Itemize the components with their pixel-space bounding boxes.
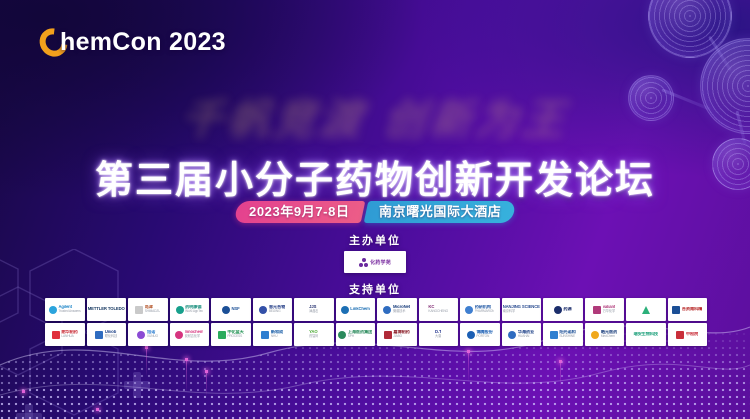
sponsor-logo-name: 阳光诺和SUNSHINE: [559, 330, 575, 339]
spark-stem-decor: [468, 352, 469, 382]
spark-decor: [205, 370, 208, 373]
sponsor-logo[interactable]: D.T大唐: [419, 323, 459, 346]
sponsor-logo-mark-icon: [338, 331, 346, 339]
tagline-text: 千帆竞渡 创新为王: [178, 84, 572, 145]
sponsor-logo-name: 上海医药集团SPH: [348, 330, 373, 339]
sponsor-logo-mark-icon: [467, 331, 475, 339]
sponsor-logo-mark-icon: [176, 306, 184, 314]
sponsor-logo-subtitle: PROCESS: [227, 335, 243, 339]
sponsor-logo-subtitle: PORTON: [476, 335, 492, 339]
sponsor-logo-mark-icon: [383, 306, 391, 314]
sponsor-logo-subtitle: KANGCHENG: [428, 310, 448, 314]
event-meta-badges: 2023年9月7-8日 南京曙光国际大酒店: [0, 201, 750, 223]
sponsor-logo-subtitle: LANHUA: [61, 335, 77, 339]
sponsor-logo[interactable]: 皓元医药MedChem: [585, 323, 625, 346]
sponsor-logo-mark-icon: [642, 306, 650, 314]
spark-decor: [467, 350, 470, 353]
sponsor-logo-name: 中检院: [686, 332, 698, 337]
sponsor-logo-name: NANJING SCIENCE南京科学: [503, 305, 540, 314]
sponsor-logo-subtitle: MedChem: [601, 335, 617, 339]
sponsor-logo-mark-icon: [95, 331, 103, 339]
sponsor-logo-mark-icon: [49, 306, 57, 314]
sponsor-logo[interactable]: 药研机构PHARMARON: [460, 298, 500, 321]
sponsor-row: 朗华制药LANHUAUniob联化科技旭诺XUNUOInnochem安耐吉化学中…: [45, 323, 707, 346]
sponsor-logo-name: 药研机构PHARMARON: [475, 305, 495, 314]
sponsor-logo[interactable]: 合资南科精: [668, 298, 708, 321]
sponsor-logo-name: JJS津晶石: [309, 305, 318, 314]
sponsor-logo-mark-icon: [137, 331, 145, 339]
venue-badge-label: 南京曙光国际大酒店: [379, 201, 501, 223]
spark-stem-decor: [186, 360, 187, 392]
sponsor-logo-subtitle: SPH: [348, 335, 373, 339]
sponsor-logo[interactable]: 瑞安生物科技: [626, 323, 666, 346]
sponsor-logo-name: Innochem安耐吉化学: [185, 330, 204, 339]
sponsor-logo-mark-icon: [52, 331, 60, 339]
sponsor-logo[interactable]: YAO药智网: [294, 323, 334, 346]
sponsor-logo-name: valiant万华化学: [603, 305, 616, 314]
sponsor-logo-mark-icon: [222, 306, 230, 314]
sponsor-logo[interactable]: 博腾股份PORTON: [460, 323, 500, 346]
sponsor-logo-subtitle: SUNSHINE: [559, 335, 575, 339]
sponsor-logo-mark-icon: [593, 306, 601, 314]
sponsor-logo-name: 药明康德WuXi AppTec: [185, 305, 203, 314]
sponsor-logo[interactable]: Uniob联化科技: [87, 323, 127, 346]
sponsor-logo-name: NSF: [231, 307, 239, 312]
sponsor-logo-mark-icon: [259, 306, 267, 314]
brand-text: hemCon 2023: [60, 28, 226, 57]
sponsor-logo-subtitle: WuXi AppTec: [185, 310, 203, 314]
sponsor-logo[interactable]: MicroNet微谱技术: [377, 298, 417, 321]
sponsor-logo-name: 合资南科精: [682, 307, 702, 312]
sponsor-logo-subtitle: 大唐: [435, 335, 441, 339]
sponsor-logo[interactable]: 药源: [543, 298, 583, 321]
conference-poster: hemCon 2023 千帆竞渡 创新为王 第三届小分子药物创新开发论坛 202…: [0, 0, 750, 419]
sponsor-logo-name: AgilentTrusted Answers: [58, 305, 80, 314]
tagline: 千帆竞渡 创新为王: [0, 84, 750, 145]
sponsor-logo-name: 瑞安生物科技: [633, 332, 658, 337]
sponsor-logo-mark-icon: [508, 331, 516, 339]
sponsor-logo[interactable]: [626, 298, 666, 321]
sponsor-logo-name: 新和成NHU: [271, 330, 283, 339]
sponsor-logo-mark-icon: [261, 331, 269, 339]
sponsor-logo[interactable]: JJS津晶石: [294, 298, 334, 321]
spark-decor: [185, 358, 188, 361]
sponsor-logo-name: 皓元医药MedChem: [601, 330, 617, 339]
sponsor-logo[interactable]: valiant万华化学: [585, 298, 625, 321]
spark-stem-decor: [146, 348, 147, 376]
venue-badge: 南京曙光国际大酒店: [364, 201, 517, 223]
sponsor-row: AgilentTrusted AnswersMETTLER TOLEDO岛津SH…: [45, 298, 707, 321]
sponsor-logo-name: YAO药智网: [309, 330, 318, 339]
sponsor-logo-subtitle: Trusted Answers: [58, 310, 80, 314]
sponsor-logo-mark-icon: [591, 331, 599, 339]
sponsor-logo[interactable]: 上海医药集团SPH: [336, 323, 376, 346]
sponsor-logo[interactable]: LinkChem: [336, 298, 376, 321]
sponsor-logo-name: 中化蓝天PROCESS: [227, 330, 243, 339]
sponsor-logo-subtitle: XUNUO: [147, 335, 158, 339]
spark-decor: [22, 390, 25, 393]
sponsor-logo[interactable]: AgilentTrusted Answers: [45, 298, 85, 321]
spark-decor: [559, 360, 562, 363]
sponsor-logo-name: 博腾股份PORTON: [476, 330, 492, 339]
sponsor-logo-mark-icon: [218, 331, 226, 339]
sponsor-logo[interactable]: Innochem安耐吉化学: [170, 323, 210, 346]
sponsor-logo-mark-icon: [384, 331, 392, 339]
sponsor-logo-mark-icon: [135, 306, 143, 314]
sponsor-logo-name: 旭诺XUNUO: [147, 330, 158, 339]
sponsor-logo-subtitle: 微谱技术: [393, 310, 410, 314]
sponsor-logo[interactable]: METTLER TOLEDO: [87, 298, 127, 321]
sponsor-logo-mark-icon: [676, 331, 684, 339]
spark-stem-decor: [206, 372, 207, 396]
sponsor-logo[interactable]: 中检院: [668, 323, 708, 346]
sponsor-logo-mark-icon: [175, 331, 183, 339]
sponsor-logo-subtitle: 南京科学: [503, 310, 540, 314]
sponsor-logo-subtitle: 药智网: [309, 335, 318, 339]
sponsor-logo-mark-icon: [550, 331, 558, 339]
sponsor-logo[interactable]: 嘉博制药JIABO: [377, 323, 417, 346]
sponsor-logo-name: LinkChem: [350, 307, 369, 312]
date-badge-label: 2023年9月7-8日: [249, 201, 350, 223]
sponsor-logo-subtitle: NHU: [271, 335, 283, 339]
sponsor-logo[interactable]: 药明康德WuXi AppTec: [170, 298, 210, 321]
sponsor-logo-name: Uniob联化科技: [105, 330, 117, 339]
sponsor-logo-mark-icon: [554, 306, 562, 314]
sponsor-logo-subtitle: 万华化学: [603, 310, 616, 314]
sponsor-logo-name: METTLER TOLEDO: [88, 307, 125, 312]
sponsor-logo[interactable]: KCKANGCHENG: [419, 298, 459, 321]
main-title-text: 第三届小分子药物创新开发论坛: [95, 158, 655, 202]
sponsor-logo-name: 朗华制药LANHUA: [61, 330, 77, 339]
sponsor-logo[interactable]: 新和成NHU: [253, 323, 293, 346]
sponsor-logo[interactable]: 岛津SHIMADZU: [128, 298, 168, 321]
sponsor-logo[interactable]: 中化蓝天PROCESS: [211, 323, 251, 346]
sponsor-logo-mark-icon: [465, 306, 473, 314]
sponsor-logo-mark-icon: [341, 306, 349, 314]
host-organization-logo: 化药学苑: [344, 251, 406, 273]
brand-logo: hemCon 2023: [40, 26, 226, 58]
host-section-label: 主办单位: [0, 232, 750, 248]
sponsor-logo-subtitle: 安耐吉化学: [185, 335, 204, 339]
sponsor-logo[interactable]: NSF: [211, 298, 251, 321]
sponsor-logo-name: KCKANGCHENG: [428, 305, 448, 314]
sponsor-logo-name: D.T大唐: [435, 330, 441, 339]
sponsor-logo[interactable]: 阳光诺和SUNSHINE: [543, 323, 583, 346]
sponsor-logo[interactable]: 华海药业HUAHAI: [502, 323, 542, 346]
sponsor-logo[interactable]: 旭诺XUNUO: [128, 323, 168, 346]
sponsor-logo-subtitle: BEIJING: [269, 310, 285, 314]
support-section-label: 支持单位: [0, 281, 750, 297]
spark-decor: [145, 346, 148, 349]
sponsor-logo-name: 华海药业HUAHAI: [518, 330, 534, 339]
sponsor-logo-subtitle: SHIMADZU: [145, 310, 161, 314]
sponsor-logo[interactable]: 恩元合物BEIJING: [253, 298, 293, 321]
sponsor-logo[interactable]: NANJING SCIENCE南京科学: [502, 298, 542, 321]
sponsor-logo-name: MicroNet微谱技术: [393, 305, 410, 314]
page-title: 第三届小分子药物创新开发论坛: [0, 149, 750, 204]
sponsor-logo-name: 药源: [563, 307, 571, 312]
sponsor-logo-grid: AgilentTrusted AnswersMETTLER TOLEDO岛津SH…: [45, 298, 707, 346]
sponsor-logo-name: 嘉博制药JIABO: [393, 330, 409, 339]
sponsor-logo-subtitle: 津晶石: [309, 310, 318, 314]
sponsor-logo-name: 岛津SHIMADZU: [145, 305, 161, 314]
spark-stem-decor: [560, 362, 561, 388]
date-badge: 2023年9月7-8日: [233, 201, 364, 223]
sponsor-logo-mark-icon: [672, 306, 680, 314]
sponsor-logo-subtitle: HUAHAI: [518, 335, 534, 339]
sponsor-logo-subtitle: 联化科技: [105, 335, 117, 339]
sponsor-logo-subtitle: PHARMARON: [475, 310, 495, 314]
spark-decor: [96, 408, 99, 411]
sponsor-logo-subtitle: JIABO: [393, 335, 409, 339]
host-logo-mark-icon: [359, 258, 368, 267]
sponsor-logo[interactable]: 朗华制药LANHUA: [45, 323, 85, 346]
host-logo-text: 化药学苑: [370, 259, 391, 266]
sponsor-logo-name: 恩元合物BEIJING: [269, 305, 285, 314]
